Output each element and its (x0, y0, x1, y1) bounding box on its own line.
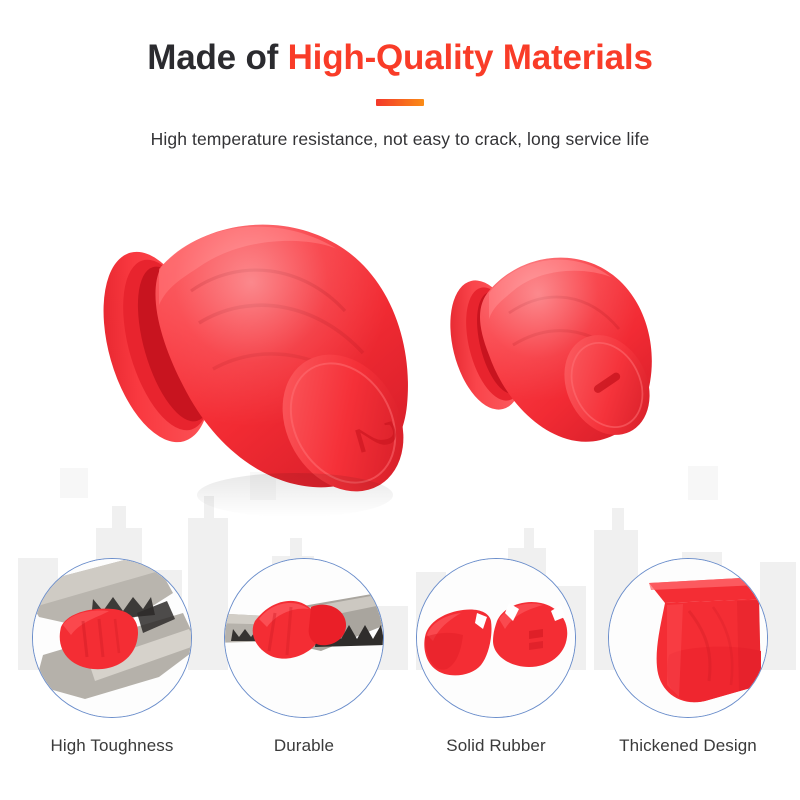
feature-high-toughness-caption: High Toughness (50, 736, 173, 756)
feature-solid-rubber-circle[interactable] (416, 558, 576, 718)
header: Made of High-Quality Materials High temp… (0, 0, 800, 150)
page-title-accent: High-Quality Materials (288, 38, 653, 77)
title-divider (376, 99, 424, 106)
cap-squeezed-by-pliers-icon (225, 559, 384, 718)
cap-in-pliers-jaws-icon (33, 559, 192, 718)
hero-product-image: 2 (0, 190, 800, 540)
page-title-prefix: Made of (147, 38, 287, 77)
feature-durable[interactable]: Durable (223, 558, 385, 756)
feature-thickened-design[interactable]: Thickened Design (607, 558, 769, 756)
page-title: Made of High-Quality Materials (0, 0, 800, 78)
feature-solid-rubber[interactable]: Solid Rubber (415, 558, 577, 756)
large-rubber-cap: 2 (95, 195, 440, 525)
page-subtitle: High temperature resistance, not easy to… (0, 106, 800, 150)
feature-thickened-design-circle[interactable] (608, 558, 768, 718)
feature-solid-rubber-caption: Solid Rubber (446, 736, 545, 756)
feature-high-toughness-circle[interactable] (32, 558, 192, 718)
feature-high-toughness[interactable]: High Toughness (31, 558, 193, 756)
feature-thickened-design-caption: Thickened Design (619, 736, 757, 756)
feature-thumbnail-strip: High Toughness (0, 558, 800, 756)
cap-cut-in-half-icon (417, 559, 576, 718)
feature-durable-circle[interactable] (224, 558, 384, 718)
feature-durable-caption: Durable (274, 736, 334, 756)
cap-side-profile-icon (609, 559, 768, 718)
small-rubber-cap (443, 235, 663, 465)
